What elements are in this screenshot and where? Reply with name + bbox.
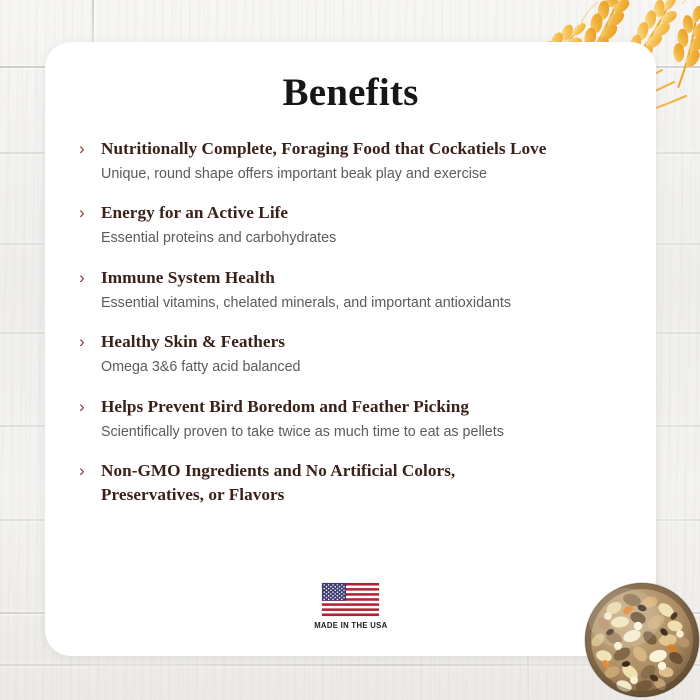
list-item: › Helps Prevent Bird Boredom and Feather… xyxy=(79,395,622,442)
chevron-right-icon: › xyxy=(79,137,101,159)
chevron-right-icon: › xyxy=(79,459,101,481)
list-item: › Nutritionally Complete, Foraging Food … xyxy=(79,137,622,184)
list-item: › Immune System Health Essential vitamin… xyxy=(79,266,622,313)
benefit-subtext: Omega 3&6 fatty acid balanced xyxy=(101,357,622,378)
page-title: Benefits xyxy=(45,70,656,115)
benefit-subtext: Unique, round shape offers important bea… xyxy=(101,164,622,185)
benefit-subtext: Essential vitamins, chelated minerals, a… xyxy=(101,293,622,314)
list-item: › Energy for an Active Life Essential pr… xyxy=(79,201,622,248)
benefit-subtext: Scientifically proven to take twice as m… xyxy=(101,422,622,443)
made-in-usa-label: MADE IN THE USA xyxy=(314,620,387,630)
benefit-heading: Immune System Health xyxy=(101,266,622,290)
chevron-right-icon: › xyxy=(79,201,101,223)
benefit-subtext: Essential proteins and carbohydrates xyxy=(101,228,622,249)
list-item: › Healthy Skin & Feathers Omega 3&6 fatt… xyxy=(79,330,622,377)
benefit-heading: Non-GMO Ingredients and No Artificial Co… xyxy=(101,459,531,506)
benefits-card: Benefits › Nutritionally Complete, Forag… xyxy=(45,42,656,656)
benefit-heading: Energy for an Active Life xyxy=(101,201,622,225)
usa-flag-icon xyxy=(322,583,379,616)
chevron-right-icon: › xyxy=(79,330,101,352)
benefit-heading: Nutritionally Complete, Foraging Food th… xyxy=(101,137,622,161)
chevron-right-icon: › xyxy=(79,266,101,288)
chevron-right-icon: › xyxy=(79,395,101,417)
made-in-usa-badge: MADE IN THE USA xyxy=(45,583,656,630)
seed-food-ball-icon xyxy=(580,578,700,700)
benefit-heading: Helps Prevent Bird Boredom and Feather P… xyxy=(101,395,622,419)
benefits-list: › Nutritionally Complete, Foraging Food … xyxy=(79,137,622,507)
list-item: › Non-GMO Ingredients and No Artificial … xyxy=(79,459,622,506)
benefit-heading: Healthy Skin & Feathers xyxy=(101,330,622,354)
